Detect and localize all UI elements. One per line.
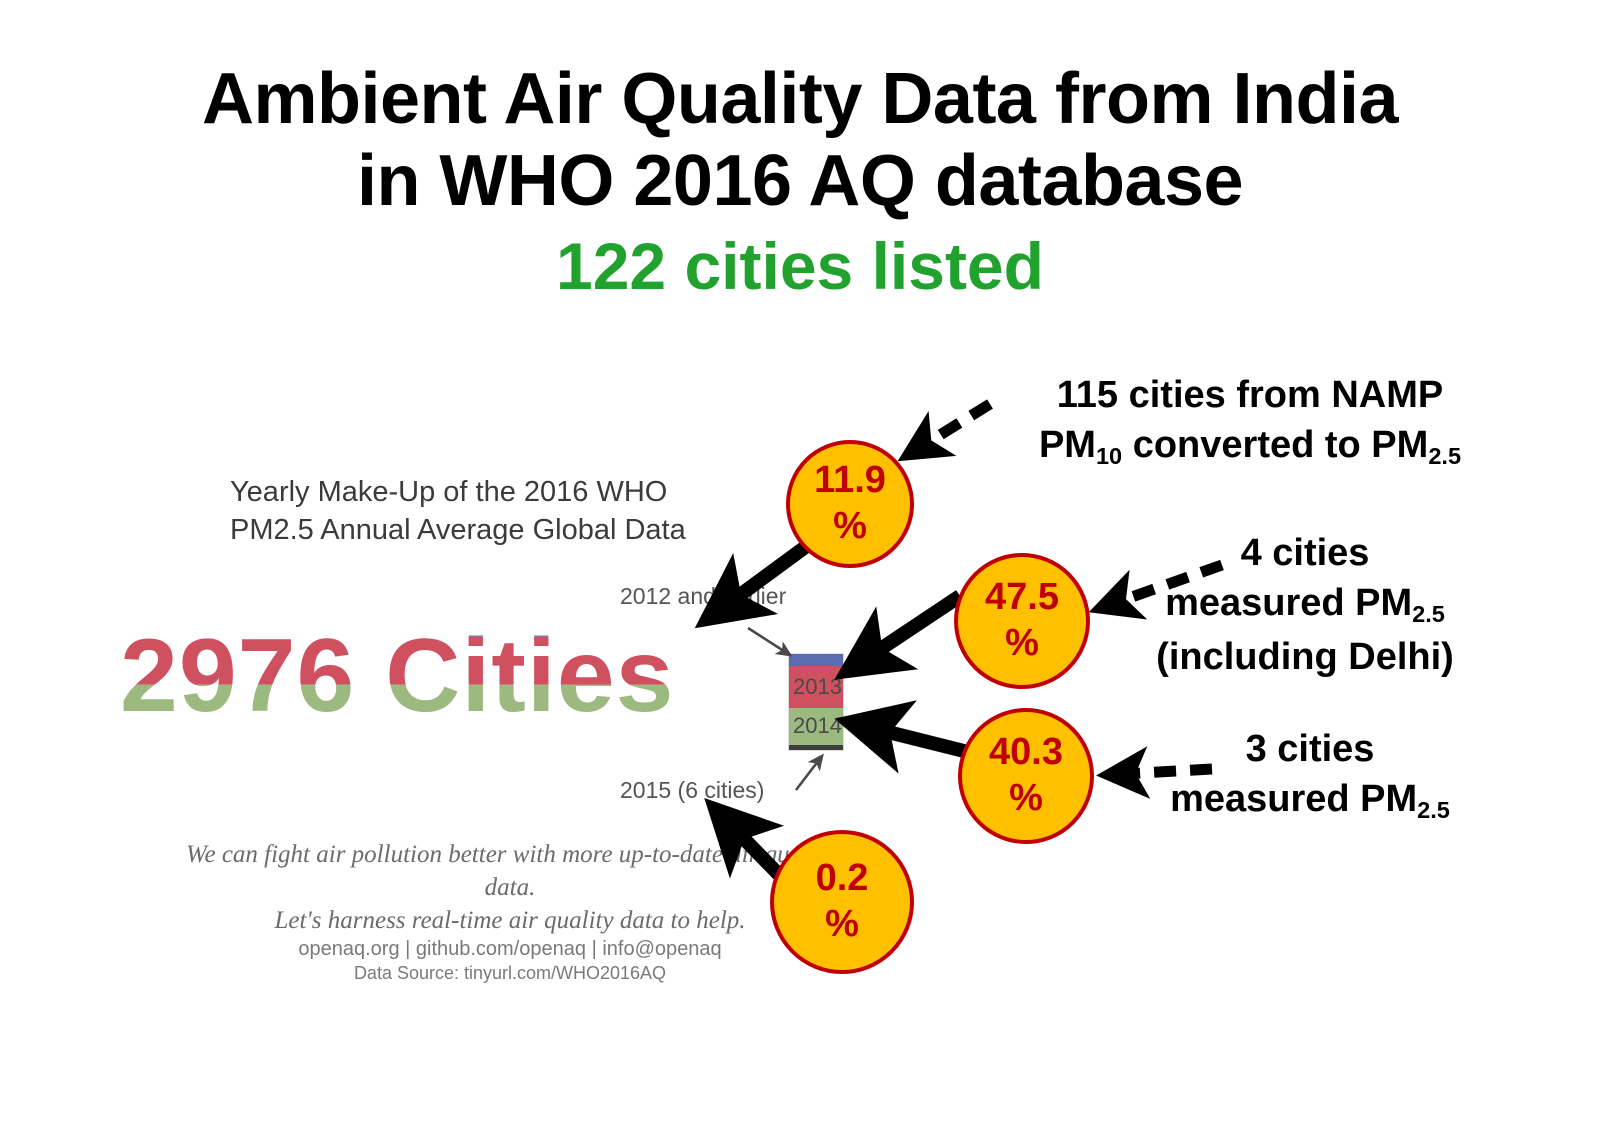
infographic-heading-line-1: Yearly Make-Up of the 2016 WHO: [230, 473, 770, 511]
note-namp-pm-a: PM: [1039, 424, 1096, 466]
bubble-percent-sign: %: [833, 507, 867, 547]
bubble-value: 11.9: [814, 461, 886, 501]
bar-segment-2012: [789, 654, 843, 666]
wordmark-2976-cities: 2976 Cities 2976 Cities 2976 Cities 2976…: [120, 620, 770, 740]
note-namp: 115 cities from NAMP PM10 converted to P…: [1000, 370, 1500, 474]
bar-label-2013: 2013: [793, 674, 842, 700]
infographic-heading-line-2: PM2.5 Annual Average Global Data: [230, 511, 770, 549]
bar-callout-2015: 2015 (6 cities): [620, 777, 764, 804]
bubble-percent-sign: %: [1009, 779, 1043, 819]
infographic-tagline: We can fight air pollution better with m…: [160, 838, 860, 937]
note-four-line-1: 4 cities: [1140, 528, 1470, 578]
slide-canvas: Ambient Air Quality Data from India in W…: [0, 0, 1600, 1131]
title-highlight: 122 cities listed: [0, 226, 1600, 306]
bubble-0-2-percent[interactable]: 0.2 %: [770, 830, 914, 974]
bubble-11-9-percent[interactable]: 11.9 %: [786, 440, 914, 568]
bubble-value: 47.5: [985, 578, 1059, 618]
bar-callout-2012: 2012 and earlier: [620, 583, 786, 610]
bar-segment-2013: 2013: [789, 666, 843, 708]
bubble-value: 0.2: [816, 859, 869, 899]
bar-segment-2014: 2014: [789, 708, 843, 745]
bar-segment-2015: [789, 745, 843, 750]
note-three-cities: 3 cities measured PM2.5: [1150, 724, 1470, 828]
title-line-1: Ambient Air Quality Data from India: [0, 58, 1600, 140]
note-three-line-2: measured PM2.5: [1150, 774, 1470, 828]
note-four-sub-25: 2.5: [1412, 601, 1445, 627]
note-four-line-3: (including Delhi): [1140, 632, 1470, 682]
note-three-sub-25: 2.5: [1417, 797, 1450, 823]
note-namp-line-1: 115 cities from NAMP: [1000, 370, 1500, 420]
tagline-line-2: Let's harness real-time air quality data…: [160, 904, 860, 937]
note-namp-line-2: PM10 converted to PM2.5: [1000, 420, 1500, 474]
bubble-percent-sign: %: [1005, 624, 1039, 664]
note-four-line-2: measured PM2.5: [1140, 578, 1470, 632]
infographic-credits: openaq.org | github.com/openaq | info@op…: [160, 935, 860, 963]
bar-label-2014: 2014: [793, 713, 842, 739]
stacked-bar-chart: 2013 2014: [788, 653, 844, 751]
tagline-line-1: We can fight air pollution better with m…: [160, 838, 860, 904]
bubble-40-3-percent[interactable]: 40.3 %: [958, 708, 1094, 844]
infographic-data-source: Data Source: tinyurl.com/WHO2016AQ: [160, 960, 860, 986]
note-three-measured: measured PM: [1170, 778, 1417, 820]
bubble-percent-sign: %: [825, 905, 859, 945]
note-three-line-1: 3 cities: [1150, 724, 1470, 774]
note-four-cities: 4 cities measured PM2.5 (including Delhi…: [1140, 528, 1470, 682]
note-namp-sub-10: 10: [1096, 443, 1122, 469]
title-line-2: in WHO 2016 AQ database: [0, 140, 1600, 222]
bubble-value: 40.3: [989, 733, 1063, 773]
note-namp-pm-b: converted to PM: [1122, 424, 1428, 466]
dashed-arrow-namp-note: [906, 404, 990, 456]
bubble-47-5-percent[interactable]: 47.5 %: [954, 553, 1090, 689]
page-title: Ambient Air Quality Data from India in W…: [0, 58, 1600, 306]
note-four-measured: measured PM: [1165, 582, 1412, 624]
infographic-heading: Yearly Make-Up of the 2016 WHO PM2.5 Ann…: [230, 473, 770, 549]
note-namp-sub-25: 2.5: [1428, 443, 1461, 469]
